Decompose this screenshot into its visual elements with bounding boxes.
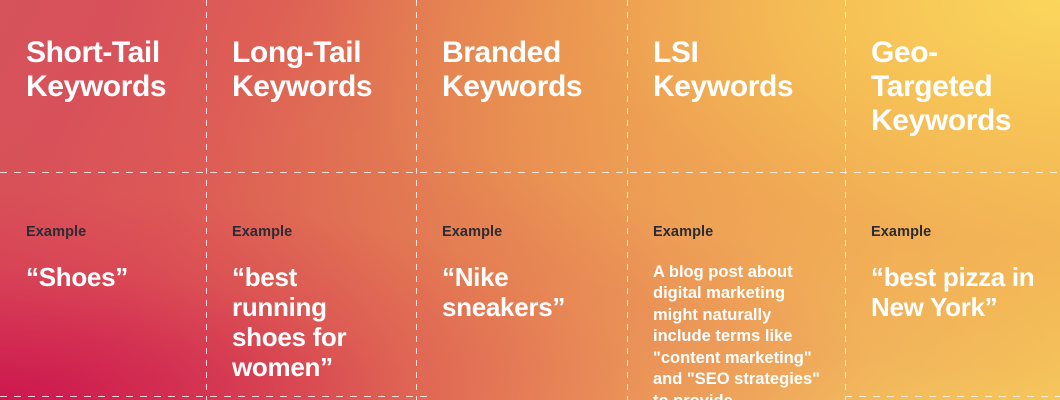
example-value-long-tail: “best running shoes for women” xyxy=(232,262,396,383)
example-value-short-tail: “Shoes” xyxy=(26,262,186,292)
column-heading-lsi: LSI Keywords xyxy=(653,36,827,104)
body-cell-lsi: Example A blog post about digital market… xyxy=(627,172,845,400)
header-cell-long-tail: Long-Tail Keywords xyxy=(206,0,416,172)
example-label-geo-targeted: Example xyxy=(871,224,1040,240)
example-label-short-tail: Example xyxy=(26,224,186,240)
example-value-lsi: A blog post about digital marketing migh… xyxy=(653,262,825,400)
body-cell-short-tail: Example “Shoes” xyxy=(0,172,206,400)
example-label-long-tail: Example xyxy=(232,224,396,240)
example-value-geo-targeted: “best pizza in New York” xyxy=(871,262,1040,322)
keyword-types-grid: Short-Tail Keywords Long-Tail Keywords B… xyxy=(0,0,1060,400)
header-cell-lsi: LSI Keywords xyxy=(627,0,845,172)
header-cell-branded: Branded Keywords xyxy=(416,0,627,172)
column-heading-short-tail: Short-Tail Keywords xyxy=(26,36,188,104)
header-cell-short-tail: Short-Tail Keywords xyxy=(0,0,206,172)
example-label-lsi: Example xyxy=(653,224,825,240)
column-heading-long-tail: Long-Tail Keywords xyxy=(232,36,398,104)
column-heading-geo-targeted: Geo- Targeted Keywords xyxy=(871,36,1042,139)
body-cell-branded: Example “Nike sneakers” xyxy=(416,172,627,400)
body-cell-long-tail: Example “best running shoes for women” xyxy=(206,172,416,400)
body-cell-geo-targeted: Example “best pizza in New York” xyxy=(845,172,1060,400)
column-heading-branded: Branded Keywords xyxy=(442,36,609,104)
example-value-branded: “Nike sneakers” xyxy=(442,262,607,322)
example-label-branded: Example xyxy=(442,224,607,240)
header-cell-geo-targeted: Geo- Targeted Keywords xyxy=(845,0,1060,172)
